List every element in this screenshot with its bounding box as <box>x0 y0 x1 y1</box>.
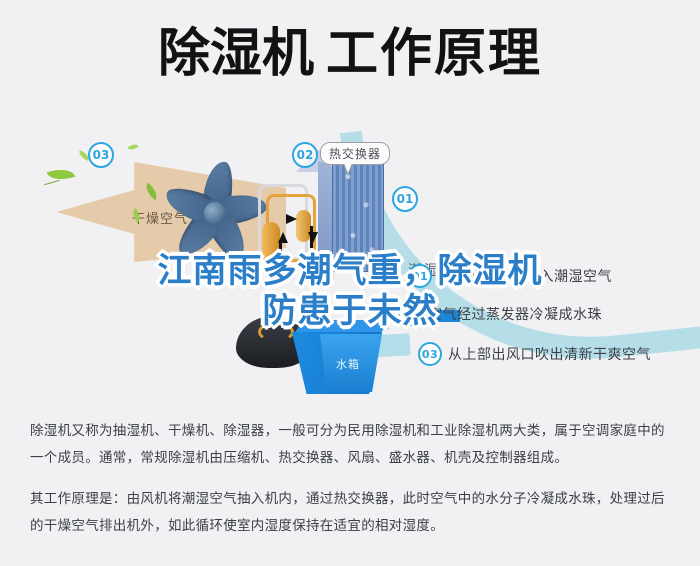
flow-arrow-down-icon <box>308 232 318 243</box>
heat-exchanger-illustration <box>318 164 382 276</box>
title-part-1: 除湿机 <box>158 24 314 84</box>
refrigerant-coil-assembly <box>256 180 326 276</box>
step-item-02: 02 空气经过蒸发器冷凝成水珠 <box>398 302 602 326</box>
body-copy: 除湿机又称为抽湿机、干燥机、除湿器，一般可分为民用除湿机和工业除湿机两大类，属于… <box>30 418 670 554</box>
flow-arrow-up-icon <box>278 232 288 243</box>
compressor-coil <box>258 322 294 342</box>
water-tank-label: 水箱 <box>336 356 360 372</box>
step-text: 从上部出风口吹出清新干爽空气 <box>448 344 651 364</box>
step-number: 03 <box>418 342 442 366</box>
copper-cylinder <box>262 222 280 264</box>
body-paragraph-1: 除湿机又称为抽湿机、干燥机、除湿器，一般可分为民用除湿机和工业除湿机两大类，属于… <box>30 418 670 472</box>
heat-exchanger-callout: 热交换器 <box>320 142 390 165</box>
flow-arrow-right-icon <box>286 214 297 224</box>
flow-line <box>279 240 282 266</box>
badge-02: 02 <box>292 142 318 168</box>
water-tank-illustration: 水箱 <box>290 320 394 396</box>
leaf-icon <box>127 141 139 152</box>
leaf-stem <box>44 180 60 185</box>
step-text: 空气经过蒸发器冷凝成水珠 <box>428 304 602 324</box>
step-number: 02 <box>398 302 422 326</box>
badge-03: 03 <box>88 142 114 168</box>
fan-hub <box>204 202 226 224</box>
body-paragraph-2: 其工作原理是：由风机将潮湿空气抽入机内，通过热交换器，此时空气中的水分子冷凝成水… <box>30 486 670 540</box>
heat-exchanger-fins <box>332 152 384 272</box>
infographic-page: 除湿机工作原理 干燥空气 <box>0 0 700 566</box>
step-text: 从下部进风口吸入潮湿空气 <box>438 266 612 286</box>
step-item-03: 03 从上部出风口吹出清新干爽空气 <box>418 342 651 366</box>
title-part-2: 工作原理 <box>326 24 542 84</box>
page-title: 除湿机工作原理 <box>0 28 700 80</box>
badge-01: 01 <box>392 186 418 212</box>
step-number: 01 <box>408 264 432 288</box>
fan-illustration <box>160 158 270 268</box>
step-item-01: 01 从下部进风口吸入潮湿空气 <box>408 264 612 288</box>
diagram-stage: 干燥空气 <box>0 120 700 410</box>
